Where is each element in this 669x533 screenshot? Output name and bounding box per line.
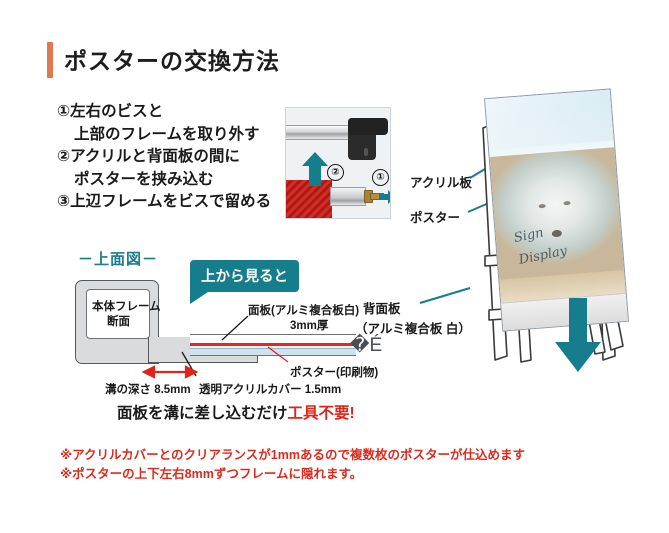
photo-step-2-marker: ② (327, 163, 344, 181)
annotation-panel-material: 面板(アルミ複合板白) (248, 302, 359, 318)
frame-rail-horizontal (285, 125, 356, 140)
frame-corner-bracket-top (348, 118, 388, 135)
sign-stand-illustration: Sign Display (455, 60, 660, 380)
step-2-line-2: ポスターを挟み込む (57, 169, 297, 192)
dog-nose (552, 229, 563, 237)
annotation-groove-depth: 溝の深さ 8.5mm (105, 381, 191, 397)
frame-label-line-2: 断面 (107, 313, 130, 329)
poster-dog-image (490, 147, 624, 282)
photo-step-1-marker: ① (372, 168, 389, 186)
frame-corner-screw-hole (364, 148, 368, 156)
label-poster: ポスター (410, 207, 460, 226)
annotation-panel-thickness: 3mm厚 (290, 317, 328, 333)
tagline: 面板を溝に差し込むだけ工具不要! (117, 401, 355, 423)
topview-callout-bubble: 上から見ると (190, 260, 299, 292)
up-arrow-icon (302, 152, 328, 186)
dog-eye-left (539, 204, 546, 209)
layer-acrylic-cover (190, 348, 356, 356)
step-1-line-1: ①左右のビスと (57, 101, 297, 124)
frame-label-line-1: 本体フレーム (92, 298, 161, 314)
step-2-line-1: ②アクリルと背面板の間に (57, 146, 297, 169)
label-backing-board: 背面板 (363, 298, 401, 317)
annotation-acrylic-cover: 透明アクリルカバー 1.5mm (199, 381, 341, 397)
annotation-poster: ポスター(印刷物) (290, 364, 378, 380)
step-1-line-2: 上部のフレームを取り外す (57, 124, 297, 147)
frame-corner-photo: ② ① (285, 107, 391, 219)
tagline-red-text: 工具不要! (288, 405, 355, 422)
title-accent-bar (47, 42, 53, 78)
tagline-black-text: 面板を溝に差し込むだけ (117, 405, 288, 422)
footnote-2: ※ポスターの上下左右8mmずつフレームに隠れます。 (60, 463, 362, 482)
dog-eye-right (563, 201, 570, 206)
steps-list: ①左右のビスと 上部のフレームを取り外す ②アクリルと背面板の間に ポスターを挟… (57, 101, 297, 214)
right-arrow-icon (379, 190, 391, 204)
break-symbol: �É (350, 333, 382, 359)
page-title: ポスターの交換方法 (64, 42, 280, 76)
footnote-1: ※アクリルカバーとのクリアランスが1mmあるので複数枚のポスターが仕込めます (60, 444, 525, 463)
panel-edge (330, 187, 366, 206)
topview-heading: －上面図－ (78, 248, 158, 269)
panel-layer-stack: �É (190, 334, 356, 360)
step-3-line-1: ③上辺フレームをビスで留める (57, 191, 297, 214)
acrylic-glare-overlay (485, 89, 614, 150)
poster-board: Sign Display (484, 88, 629, 331)
down-arrow-icon (555, 298, 601, 372)
